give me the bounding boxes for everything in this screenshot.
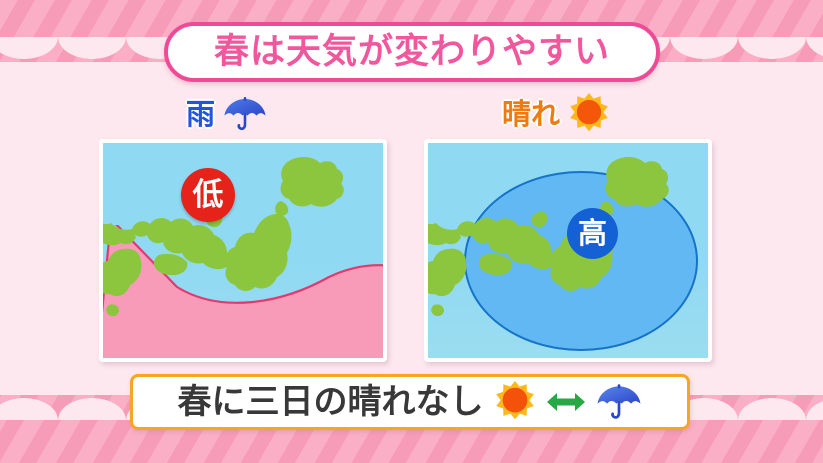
high-pressure-badge: 高 bbox=[567, 208, 618, 259]
weather-map-rain: 低 bbox=[99, 139, 387, 362]
proverb-banner: 春に三日の晴れなし bbox=[130, 374, 690, 430]
high-pressure-label: 高 bbox=[578, 219, 607, 248]
weather-map-sun: 高 bbox=[424, 139, 712, 362]
column-label-rain: 雨 bbox=[186, 100, 215, 129]
column-header-rain: 雨 bbox=[186, 94, 268, 134]
title-pill: 春は天気が変わりやすい bbox=[164, 22, 660, 82]
japan-map-outline bbox=[103, 143, 383, 358]
left-right-arrow-icon bbox=[546, 390, 586, 414]
map-canvas-sun: 高 bbox=[428, 143, 708, 358]
map-canvas-rain: 低 bbox=[103, 143, 383, 358]
low-pressure-badge: 低 bbox=[181, 168, 235, 222]
japan-map-outline bbox=[428, 143, 708, 358]
sun-icon bbox=[493, 380, 537, 424]
slide-canvas: 春は天気が変わりやすい 雨 晴れ bbox=[0, 0, 823, 463]
low-pressure-label: 低 bbox=[193, 180, 224, 211]
column-header-sun: 晴れ bbox=[502, 94, 611, 134]
umbrella-icon bbox=[222, 95, 268, 133]
umbrella-icon bbox=[595, 381, 643, 423]
page-title: 春は天気が変わりやすい bbox=[214, 35, 610, 70]
column-label-sun: 晴れ bbox=[502, 100, 560, 129]
proverb-text: 春に三日の晴れなし bbox=[178, 385, 484, 419]
sun-icon bbox=[567, 92, 611, 136]
